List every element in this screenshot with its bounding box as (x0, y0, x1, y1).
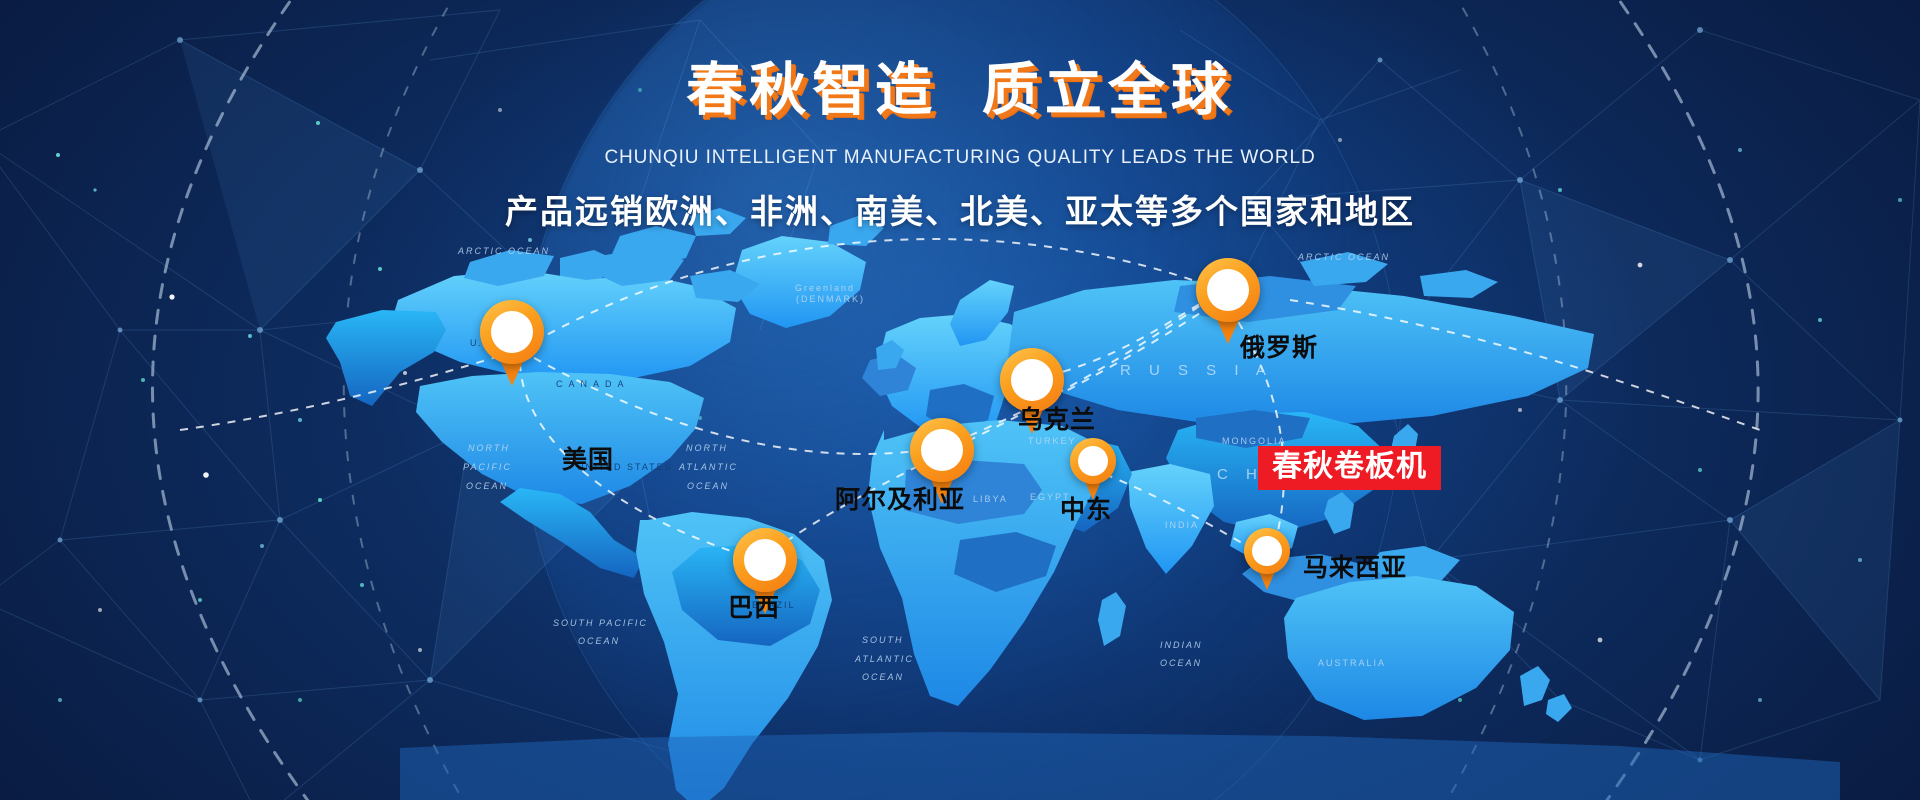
map-pin-label-brazil: 巴西 (728, 588, 780, 624)
global-distribution-banner: 春秋智造 质立全球 CHUNQIU INTELLIGENT MANUFACTUR… (0, 0, 1920, 800)
pin-inner-circle-icon (744, 539, 786, 581)
pin-inner-circle-icon (491, 311, 533, 353)
brand-badge[interactable]: 春秋卷板机 (1258, 446, 1441, 490)
map-pin-label-united-states: 美国 (562, 440, 614, 476)
map-pin-label-algeria: 阿尔及利亚 (835, 480, 965, 516)
map-pin-label-middle-east: 中东 (1060, 490, 1112, 526)
map-pin-label-ukraine: 乌克兰 (1018, 400, 1096, 436)
pin-inner-circle-icon (1252, 536, 1282, 566)
map-pin-malaysia[interactable] (1244, 528, 1290, 590)
map-pin-label-malaysia: 马来西亚 (1303, 548, 1407, 584)
pin-inner-circle-icon (1207, 269, 1249, 311)
pin-inner-circle-icon (921, 429, 963, 471)
pin-inner-circle-icon (1078, 446, 1108, 476)
pin-inner-circle-icon (1011, 359, 1053, 401)
map-pin-united-states[interactable] (480, 300, 544, 386)
map-markers: 美国巴西阿尔及利亚乌克兰俄罗斯中东马来西亚 (0, 0, 1920, 800)
map-pin-label-russia: 俄罗斯 (1240, 328, 1318, 364)
